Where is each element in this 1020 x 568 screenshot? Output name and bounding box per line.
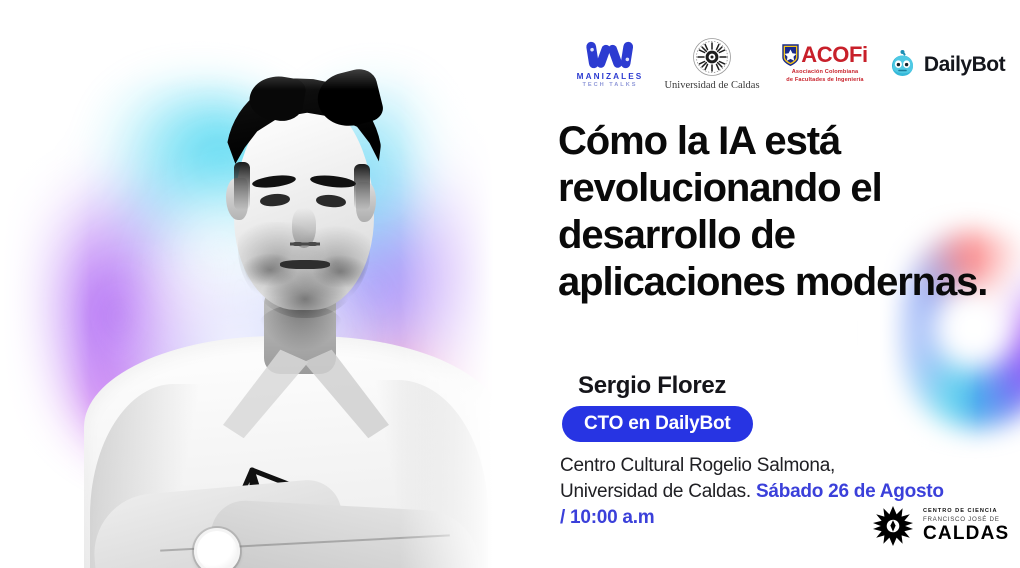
universidad-de-caldas-name: Universidad de Caldas	[664, 81, 759, 92]
acofi-name: ACOFi	[801, 44, 867, 66]
caldas-line3: CALDAS	[923, 524, 1009, 543]
acofi-subtitle-line2: de Facultades de Ingeniería	[786, 77, 863, 85]
universidad-de-caldas-seal-icon	[692, 37, 732, 77]
manizales-m-icon	[585, 40, 634, 70]
portrait-sideburn-left	[234, 162, 250, 210]
logo-universidad-de-caldas: Universidad de Caldas	[658, 34, 766, 94]
logo-dailybot: DailyBot	[884, 34, 1008, 94]
sponsor-logo-bar: MANIZALES TECH TALKS	[562, 34, 1008, 94]
caldas-star-icon	[872, 505, 914, 547]
event-date: Sábado 26 de Agosto	[756, 481, 944, 502]
dailybot-robot-icon	[887, 49, 918, 80]
caldas-line2: FRANCISCO JOSÉ DE	[923, 517, 1009, 523]
logo-centro-de-ciencia-caldas: CENTRO DE CIENCIA FRANCISCO JOSÉ DE CALD…	[872, 505, 1009, 547]
portrait-mouth	[280, 260, 330, 269]
portrait-panel	[0, 0, 530, 568]
manizales-subtitle: TECH TALKS	[582, 83, 637, 89]
speaker-role-badge: CTO en DailyBot	[562, 406, 753, 442]
event-venue-line1: Centro Cultural Rogelio Salmona,	[560, 455, 835, 476]
event-poster: MANIZALES TECH TALKS	[0, 0, 1020, 568]
logo-manizales-tech-talks: MANIZALES TECH TALKS	[562, 34, 658, 94]
content-panel: MANIZALES TECH TALKS	[530, 0, 1020, 568]
manizales-name: MANIZALES	[577, 73, 644, 81]
portrait-nostrils	[290, 240, 320, 248]
event-time: / 10:00 a.m	[560, 507, 654, 528]
page-title: Cómo la IA está revolucionando el desarr…	[558, 118, 1008, 306]
caldas-line1: CENTRO DE CIENCIA	[923, 509, 1009, 515]
portrait-sideburn-right	[354, 164, 370, 210]
event-venue-line2: Universidad de Caldas.	[560, 481, 756, 502]
speaker-name: Sergio Florez	[578, 372, 726, 400]
fade-left	[0, 0, 90, 568]
dailybot-name: DailyBot	[924, 54, 1005, 75]
fade-right	[400, 0, 530, 568]
wrist-watch-icon	[194, 528, 240, 568]
acofi-subtitle-line1: Asociación Colombiana	[792, 69, 859, 77]
logo-acofi: ACOFi Asociación Colombiana de Facultade…	[766, 34, 884, 94]
acofi-shield-icon	[782, 44, 799, 66]
